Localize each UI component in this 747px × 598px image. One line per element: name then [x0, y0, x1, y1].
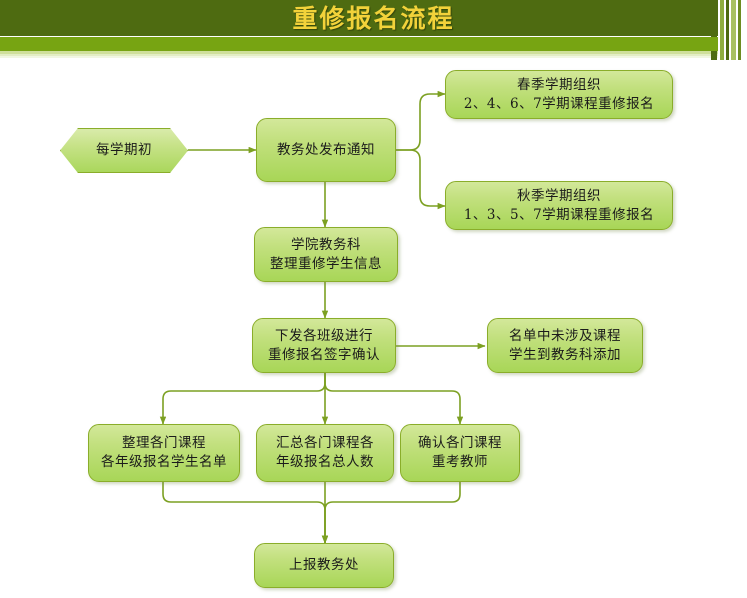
node-compile-student-name-lists[interactable]: 整理各门课程 各年级报名学生名单 — [88, 424, 240, 482]
node-autumn-semester-registration[interactable]: 秋季学期组织 1、3、5、7学期课程重修报名 — [445, 181, 673, 230]
edge-n2-n3 — [396, 94, 445, 150]
node-report-to-academic-office[interactable]: 上报教务处 — [254, 543, 394, 588]
node-every-semester-start[interactable]: 每学期初 — [60, 128, 188, 173]
node-add-missing-courses-at-office[interactable]: 名单中未涉及课程 学生到教务科添加 — [487, 318, 643, 373]
edge-n8-n11 — [163, 482, 325, 543]
edge-n6-n10 — [325, 373, 460, 424]
node-college-office-compile-info[interactable]: 学院教务科 整理重修学生信息 — [254, 227, 398, 282]
node-total-registration-counts[interactable]: 汇总各门课程各 年级报名总人数 — [256, 424, 394, 482]
node-confirm-retake-teachers[interactable]: 确认各门课程 重考教师 — [400, 424, 520, 482]
node-academic-office-notice[interactable]: 教务处发布通知 — [256, 118, 396, 182]
edge-n2-n4 — [396, 150, 445, 206]
node-spring-semester-registration[interactable]: 春季学期组织 2、4、6、7学期课程重修报名 — [445, 70, 673, 119]
edge-n6-n8 — [163, 373, 325, 424]
node-label: 每学期初 — [96, 141, 152, 160]
edge-n10-n11 — [325, 482, 460, 543]
node-distribute-to-classes-sign[interactable]: 下发各班级进行 重修报名签字确认 — [252, 318, 396, 373]
